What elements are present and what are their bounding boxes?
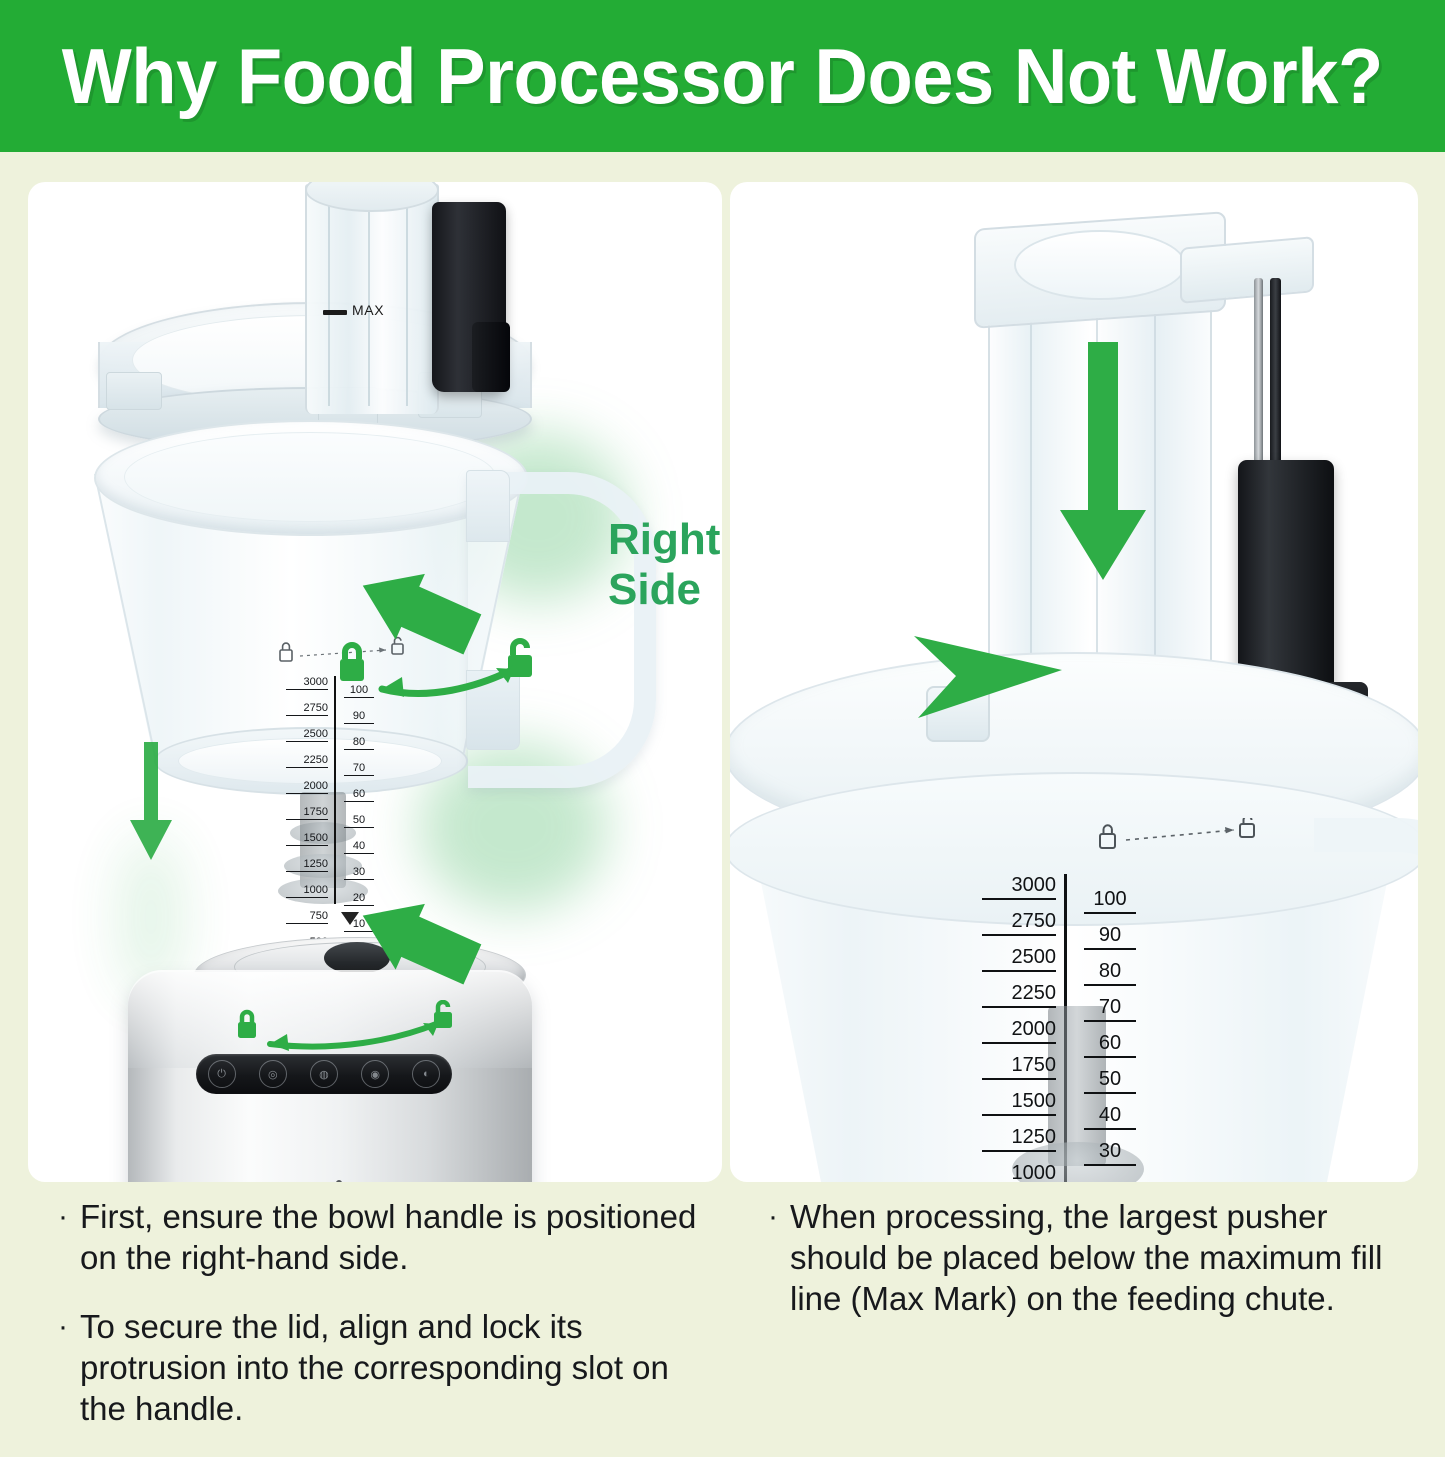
scale-tick-oz: 60 xyxy=(344,788,374,802)
feed-chute xyxy=(305,184,439,414)
chute-stripe xyxy=(368,190,370,406)
bullet-dot-icon: · xyxy=(58,1306,80,1347)
bowl-handle-top xyxy=(466,470,510,542)
scale-tick-ml: 2750 xyxy=(982,910,1056,936)
base-lock-rotate-arrow xyxy=(226,1000,476,1062)
right-side-label: Right Side xyxy=(608,515,720,615)
pusher-rod-metal xyxy=(1254,278,1263,470)
power-icon[interactable]: ⏻ xyxy=(208,1060,236,1088)
scale-tick-ml: 1000 xyxy=(286,884,328,898)
scale-tick-ml: 2000 xyxy=(286,780,328,794)
chute-stripe xyxy=(406,190,408,406)
scale-tick-ml: 2250 xyxy=(982,982,1056,1008)
down-arrow-icon xyxy=(1050,342,1160,592)
scale-tick-ml: 1500 xyxy=(286,832,328,846)
scale-tick-oz: 50 xyxy=(344,814,374,828)
caption-bullet: ·When processing, the largest pusher sho… xyxy=(768,1196,1428,1319)
header-banner: Why Food Processor Does Not Work? xyxy=(0,0,1445,152)
bowl-handle xyxy=(1314,818,1418,1182)
scale-tick-ml: 1500 xyxy=(982,1090,1056,1116)
speed-2-icon[interactable]: ◉ xyxy=(361,1060,389,1088)
chute-stripe xyxy=(328,190,330,406)
bullet-dot-icon: · xyxy=(58,1196,80,1237)
scale-tick-oz: 100 xyxy=(1084,888,1136,914)
right-caption-list: ·When processing, the largest pusher sho… xyxy=(768,1196,1428,1347)
scale-tick-ml: 1250 xyxy=(982,1126,1056,1152)
scale-tick-oz: 80 xyxy=(344,736,374,750)
scale-tick-oz: 40 xyxy=(344,840,374,854)
scale-tick-oz: 80 xyxy=(1084,960,1136,986)
bowl-rim-inner xyxy=(124,432,496,522)
right-side-label-line2: Side xyxy=(608,565,720,615)
right-side-label-line1: Right xyxy=(608,515,720,565)
caption-bullet: ·To secure the lid, align and lock its p… xyxy=(58,1306,708,1429)
scale-tick-ml: 750 xyxy=(286,910,328,924)
pusher-wing xyxy=(1180,236,1314,304)
scale-tick-ml: 2500 xyxy=(286,728,328,742)
scale-tick-ml: 3000 xyxy=(982,874,1056,900)
pusher-rod-black xyxy=(1270,278,1281,470)
scale-tick-oz: 30 xyxy=(1084,1140,1136,1166)
lock-closed-icon xyxy=(340,645,364,681)
scale-tick-oz: 40 xyxy=(1084,1104,1136,1130)
food-pusher-foot xyxy=(472,322,510,392)
caption-text: First, ensure the bowl handle is positio… xyxy=(80,1196,708,1278)
dial-indicator-dot xyxy=(336,1180,342,1182)
page-title: Why Food Processor Does Not Work? xyxy=(62,31,1383,122)
bowl-lock-markings xyxy=(1092,818,1292,858)
left-image-panel: MAX 300027502500225020001750150012501000… xyxy=(28,182,722,1182)
scale-tick-ml: 2250 xyxy=(286,754,328,768)
lid-tab-left xyxy=(106,372,162,410)
left-caption-list: ·First, ensure the bowl handle is positi… xyxy=(58,1196,708,1457)
down-arrow-icon xyxy=(124,742,178,868)
scale-tick-ml: 1750 xyxy=(286,806,328,820)
scale-tick-ml: 2500 xyxy=(982,946,1056,972)
pulse-icon[interactable]: ◎ xyxy=(259,1060,287,1088)
lock-closed-icon xyxy=(238,1012,256,1038)
scale-tick-ml: 1250 xyxy=(286,858,328,872)
scale-tick-oz: 70 xyxy=(344,762,374,776)
scale-tick-oz: 90 xyxy=(1084,924,1136,950)
lid-lock-rotate-arrow xyxy=(318,637,548,717)
scale-tick-oz: 30 xyxy=(344,866,374,880)
scale-tick-ml: 1750 xyxy=(982,1054,1056,1080)
caption-text: To secure the lid, align and lock its pr… xyxy=(80,1306,708,1429)
scale-tick-ml: 1000 xyxy=(982,1162,1056,1182)
chute-opening xyxy=(1014,230,1186,300)
caption-text: When processing, the largest pusher shou… xyxy=(790,1196,1428,1319)
scale-tick-oz: 60 xyxy=(1084,1032,1136,1058)
chute-max-mark-line xyxy=(323,310,347,315)
bullet-dot-icon: · xyxy=(768,1196,790,1237)
caption-bullet: ·First, ensure the bowl handle is positi… xyxy=(58,1196,708,1278)
chute-max-label: MAX xyxy=(352,302,384,318)
scale-tick-oz: 50 xyxy=(1084,1068,1136,1094)
point-right-arrow-icon xyxy=(912,634,1072,720)
speed-1-icon[interactable]: ◍ xyxy=(310,1060,338,1088)
dough-icon[interactable]: ◐ xyxy=(412,1060,440,1088)
scale-tick-ml: 2000 xyxy=(982,1018,1056,1044)
scale-tick-oz: 70 xyxy=(1084,996,1136,1022)
right-image-panel: MAX 300027502500225020001750150012501000… xyxy=(730,182,1418,1182)
